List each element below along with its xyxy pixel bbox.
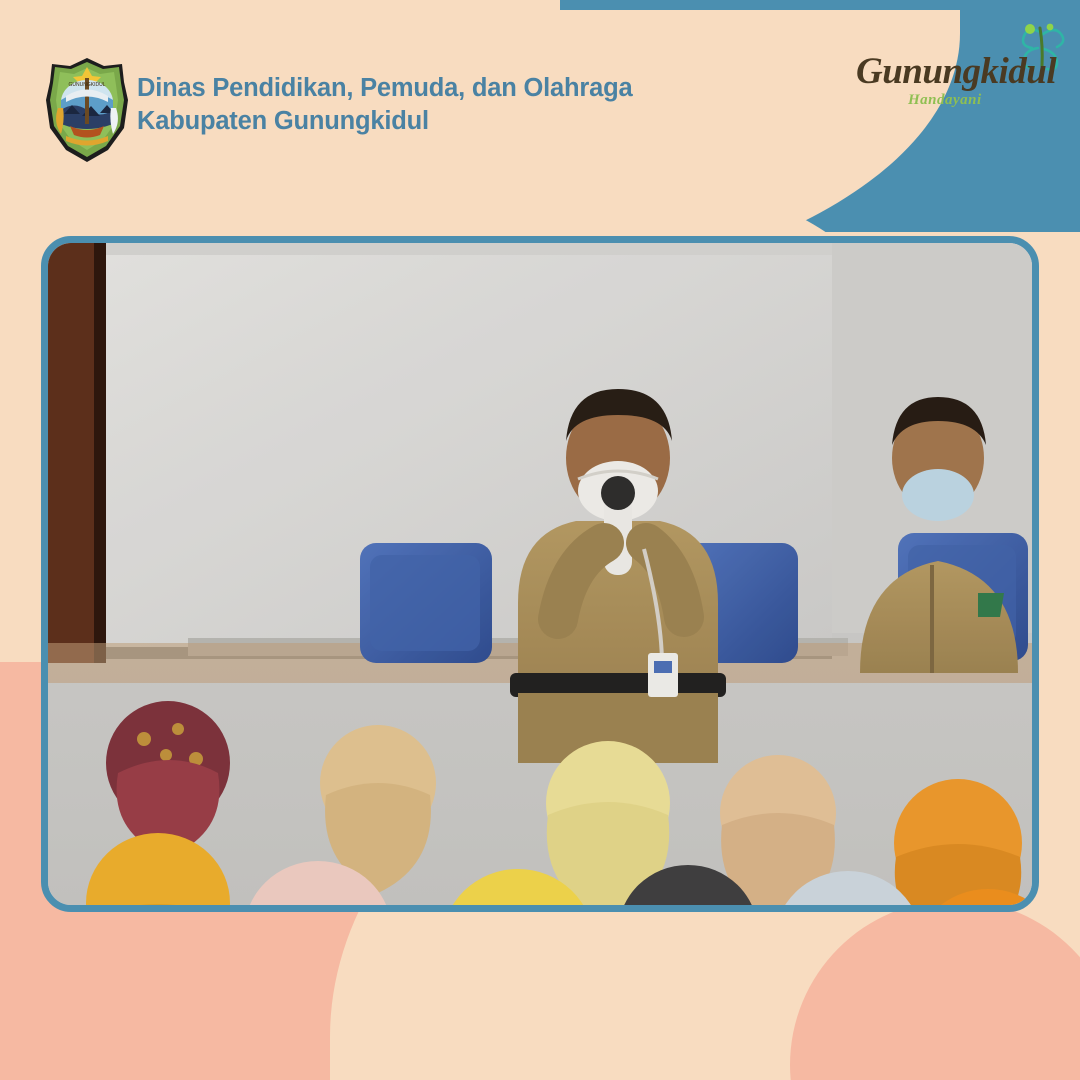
poster-footer: @dikpora_gk pendidikan.gunungkidulkab.go… — [0, 940, 1080, 1080]
poster-canvas: GUNUNGKIDUL Dinas Pendidikan, Pemuda, da… — [0, 0, 1080, 1080]
event-photo-card — [41, 236, 1039, 912]
brand-tagline: Handayani — [908, 92, 982, 109]
page-title: Dinas Pendidikan, Pemuda, dan Olahraga K… — [137, 72, 632, 138]
brand-wordmark: Gunungkidul — [856, 50, 1056, 93]
event-photo — [48, 243, 1032, 905]
poster-header: GUNUNGKIDUL Dinas Pendidikan, Pemuda, da… — [0, 0, 1080, 232]
svg-text:GUNUNGKIDUL: GUNUNGKIDUL — [69, 82, 106, 88]
gunungkidul-brand-logo: Gunungkidul Handayani — [856, 22, 1066, 118]
coat-of-arms-icon: GUNUNGKIDUL — [44, 56, 130, 164]
event-photo-illustration — [48, 243, 1032, 905]
